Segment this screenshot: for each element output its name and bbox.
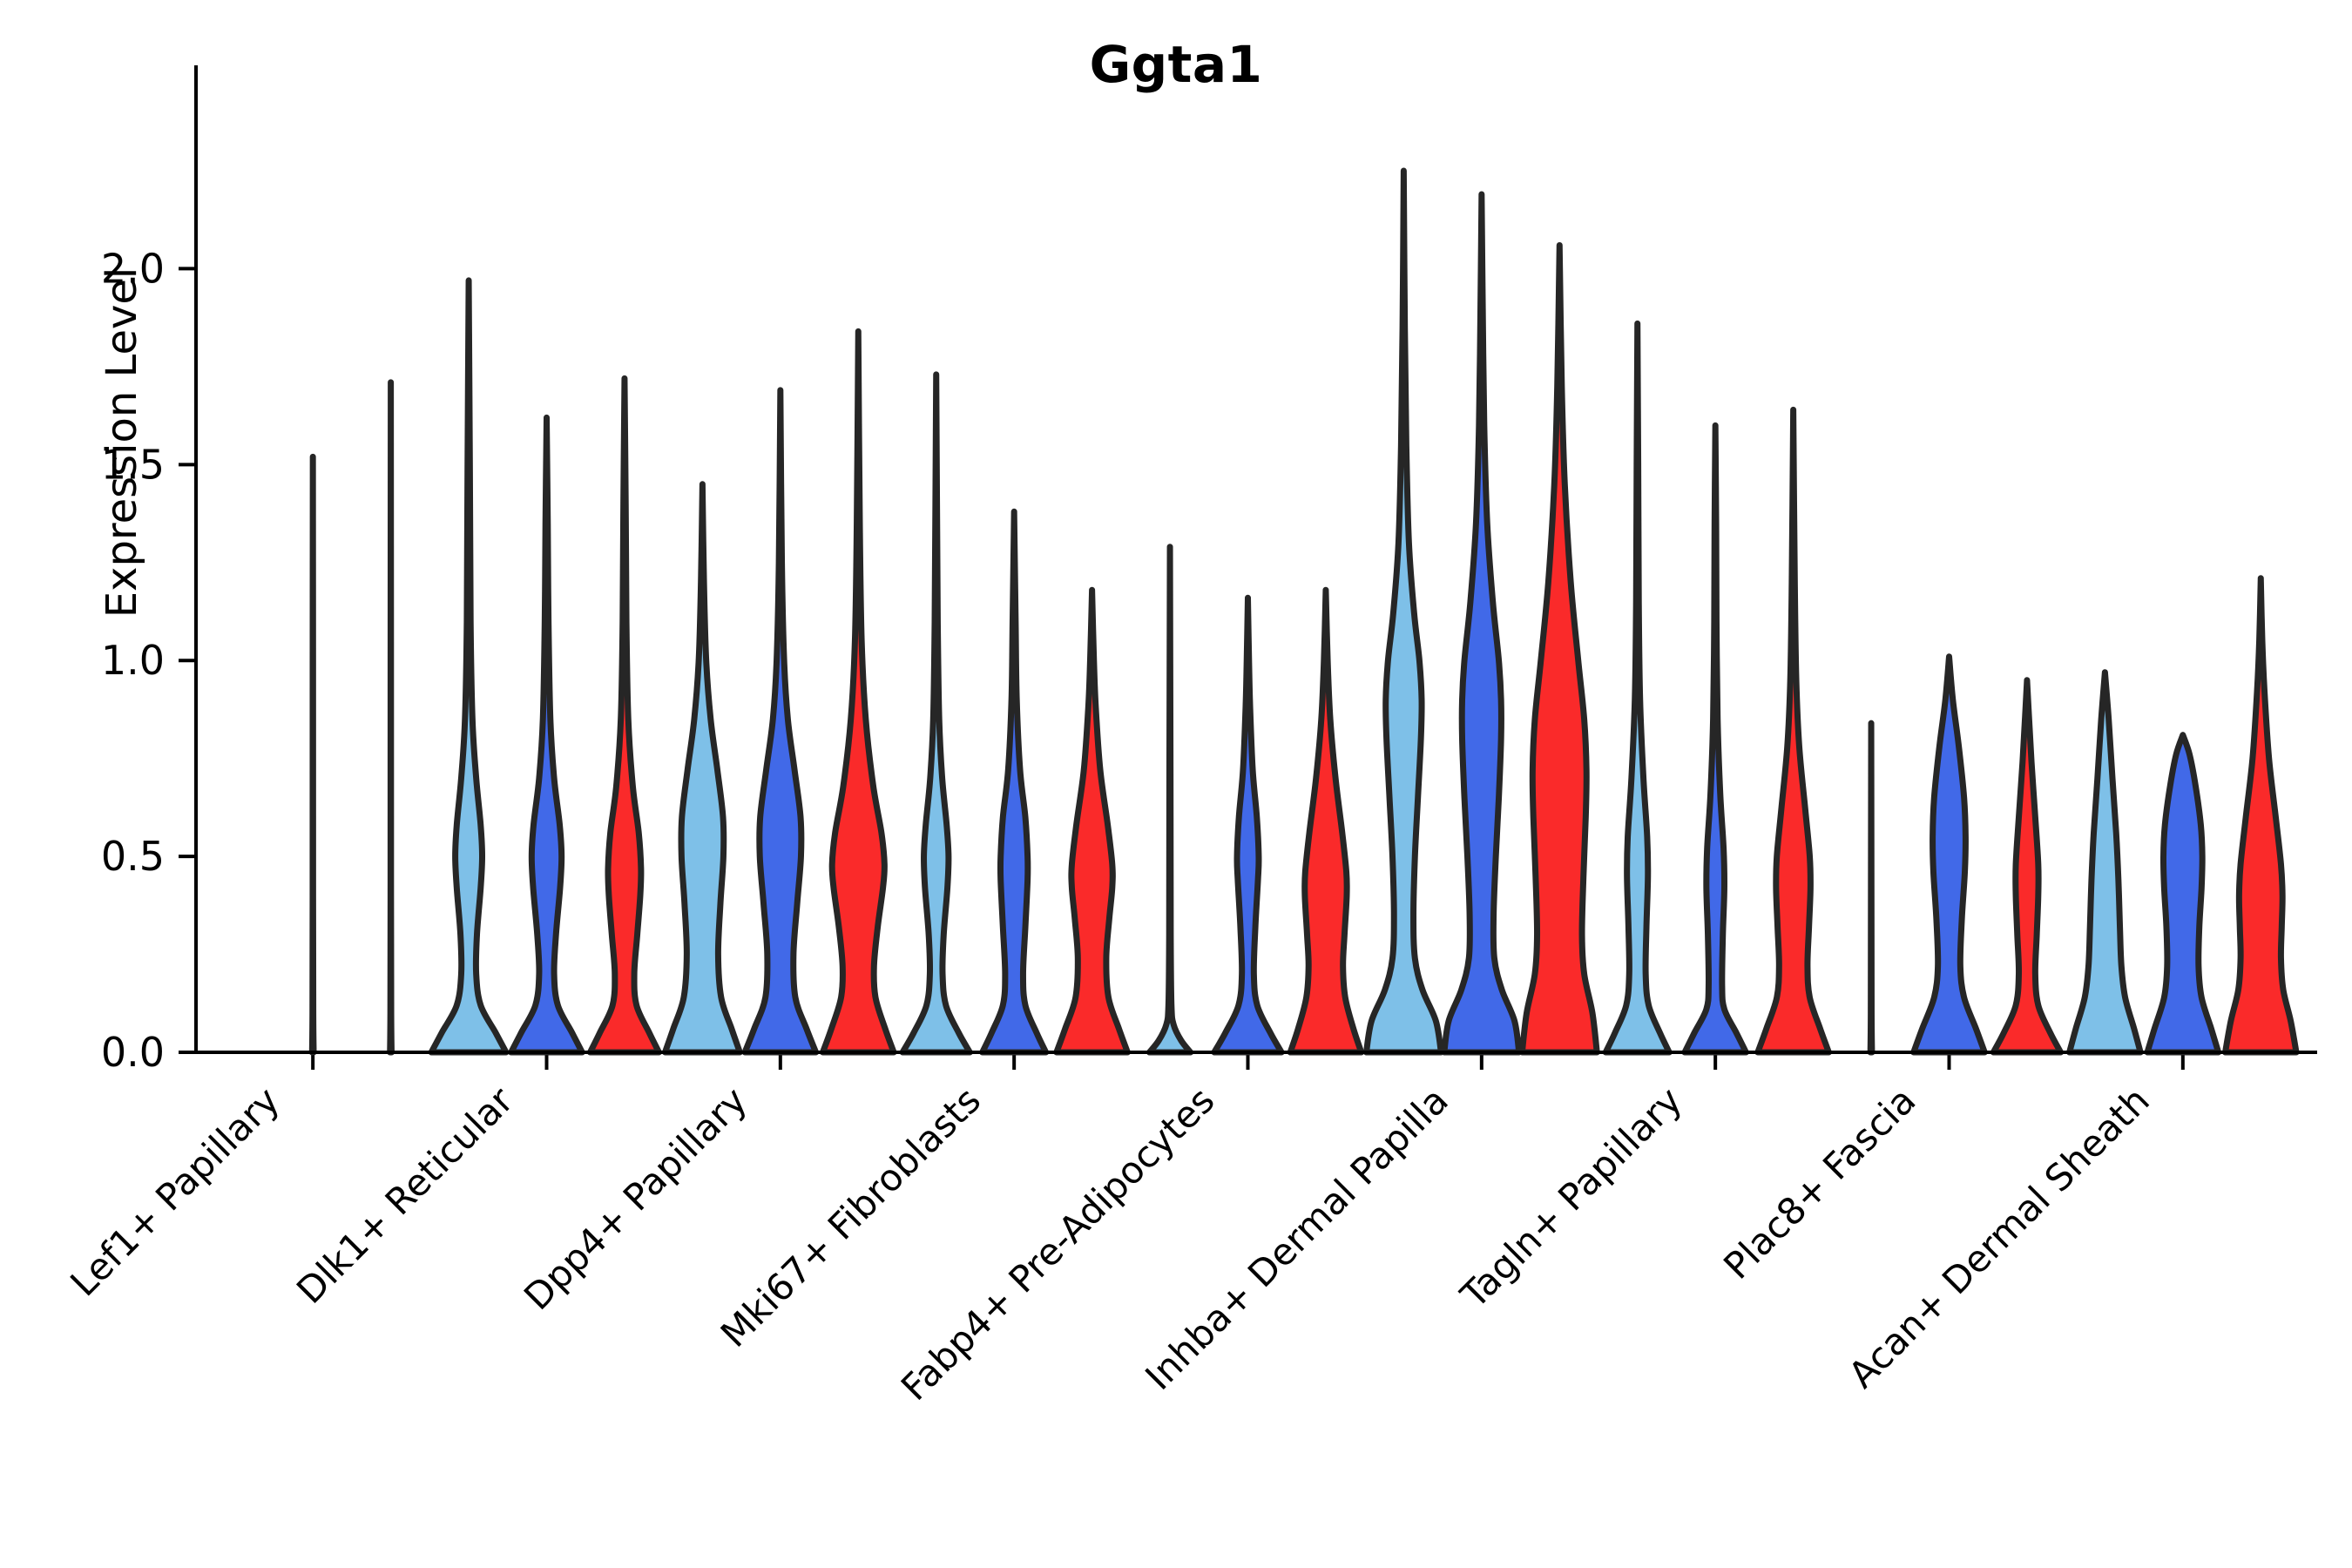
x-tick-label: Dpp4+ Papillary [516,1078,755,1318]
violin-shape [1149,547,1190,1052]
violin-shape [745,390,816,1052]
y-tick-label: 1.5 [101,441,165,488]
violin-shape [2147,735,2219,1052]
violin-series-group [312,171,2296,1052]
y-tick-label: 2.0 [101,245,165,292]
violin-shape [1057,590,1128,1052]
violin-shape [312,456,314,1052]
violin-shape [983,511,1046,1052]
violin-shape [2225,578,2296,1052]
violin-shape [590,378,659,1052]
violin-shape [1214,598,1281,1052]
violin-shape [431,280,506,1052]
violin-shape [1993,680,2060,1052]
violin-shape [1290,590,1362,1052]
violin-shape [1522,245,1597,1052]
violin-shape [665,484,740,1052]
x-tick-label: Dlk1+ Reticular [288,1078,522,1312]
violin-plot-figure: Ggta1 Expression Level 0.00.51.01.52.0Le… [0,0,2352,1568]
x-tick-label: Lef1+ Papillary [62,1078,287,1304]
violin-shape [1605,323,1669,1052]
y-tick-label: 0.5 [101,833,165,880]
violin-shape [1758,409,1829,1052]
violin-shape [2070,672,2141,1052]
violin-shape [1914,657,1985,1052]
y-tick-label: 0.0 [101,1029,165,1076]
x-tick-label: Tagln+ Papillary [1452,1078,1690,1316]
violin-shape [1870,723,1872,1052]
y-tick-label: 1.0 [101,637,165,684]
violin-shape [1685,425,1746,1052]
violin-shape [822,331,894,1052]
violin-shape [1366,171,1441,1052]
violin-shape [1444,194,1519,1052]
violin-chart-canvas: 0.00.51.01.52.0Lef1+ PapillaryDlk1+ Reti… [0,0,2352,1568]
violin-shape [902,375,970,1052]
violin-shape [390,382,392,1052]
x-tick-label: Plac8+ Fascia [1715,1078,1923,1287]
violin-shape [511,417,583,1052]
x-tick-label: Mki67+ Fibroblasts [713,1078,989,1355]
